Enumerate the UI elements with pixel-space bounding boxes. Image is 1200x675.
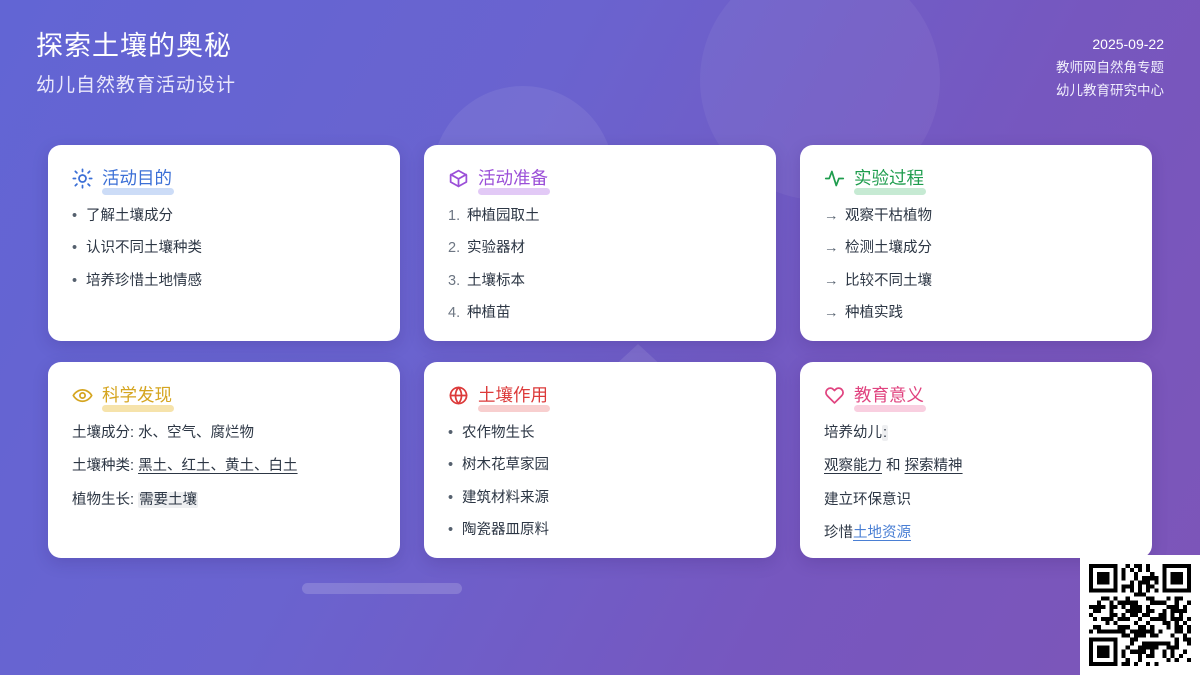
list-item: •了解土壤成分 (72, 205, 376, 227)
text-line-label: 培养幼儿 (824, 425, 882, 441)
card-title-wrap: 教育意义 (854, 384, 924, 407)
list-item: 2.实验器材 (448, 237, 752, 259)
list-item-text: 建筑材料来源 (462, 487, 549, 509)
card-1: 活动目的•了解土壤成分•认识不同土壤种类•培养珍惜土地情感 (48, 145, 400, 341)
card-body: •农作物生长•树木花草家园•建筑材料来源•陶瓷器皿原料 (448, 422, 752, 542)
list-item-text: 农作物生长 (462, 422, 535, 444)
list-item-text: 观察干枯植物 (845, 205, 932, 227)
qr-code-panel[interactable] (1080, 555, 1200, 675)
list-marker: 1. (448, 205, 467, 227)
card-title: 教育意义 (854, 385, 924, 405)
header-org: 幼儿教育研究中心 (1056, 79, 1164, 102)
text-line: 珍惜土地资源 (824, 522, 1128, 544)
card-body: 土壤成分: 水、空气、腐烂物土壤种类: 黑土、红土、黄土、白土植物生长: 需要土… (72, 422, 376, 511)
list-item: →种植实践 (824, 302, 1128, 324)
text-line-label: 土壤种类: (72, 458, 138, 474)
text-line-label: 土壤成分: (72, 425, 138, 441)
card-title-wrap: 活动准备 (478, 167, 548, 190)
text-line-value: 水、空气、腐烂物 (138, 425, 254, 441)
list-marker: 2. (448, 237, 467, 259)
list-marker: • (448, 422, 462, 444)
text-line: 培养幼儿: (824, 422, 1128, 444)
list-item: •认识不同土壤种类 (72, 237, 376, 259)
list-item: •培养珍惜土地情感 (72, 270, 376, 292)
globe-icon (448, 385, 469, 406)
list-marker: • (448, 519, 462, 541)
list-item-text: 认识不同土壤种类 (86, 237, 202, 259)
text-line: 观察能力 和 探索精神 (824, 455, 1128, 477)
list-item-text: 检测土壤成分 (845, 237, 932, 259)
header-date: 2025-09-22 (1056, 32, 1164, 56)
text-line-value[interactable]: 土地资源 (853, 525, 911, 541)
list-item-text: 实验器材 (467, 237, 525, 259)
list-marker: → (824, 237, 845, 259)
card-2: 活动准备1.种植园取土2.实验器材3.土壤标本4.种植苗 (424, 145, 776, 341)
list-item-text: 培养珍惜土地情感 (86, 270, 202, 292)
card-title: 实验过程 (854, 168, 924, 188)
eye-icon (72, 385, 93, 406)
list-marker: • (448, 487, 462, 509)
text-line-value: 黑土、红土、黄土、白土 (138, 458, 298, 474)
list-marker: → (824, 270, 845, 292)
list-item-text: 比较不同土壤 (845, 270, 932, 292)
list-marker: • (448, 454, 462, 476)
text-line: 土壤种类: 黑土、红土、黄土、白土 (72, 455, 376, 477)
cube-icon (448, 168, 469, 189)
list-item-text: 了解土壤成分 (86, 205, 173, 227)
card-header: 活动准备 (448, 167, 752, 190)
list-item-text: 种植实践 (845, 302, 903, 324)
list-marker: • (72, 205, 86, 227)
card-5: 土壤作用•农作物生长•树木花草家园•建筑材料来源•陶瓷器皿原料 (424, 362, 776, 558)
card-header: 实验过程 (824, 167, 1128, 190)
card-body: •了解土壤成分•认识不同土壤种类•培养珍惜土地情感 (72, 205, 376, 292)
list-item-text: 种植园取土 (467, 205, 540, 227)
card-title-highlight (854, 188, 926, 195)
header-source: 教师网自然角专题 (1056, 56, 1164, 79)
card-body: →观察干枯植物→检测土壤成分→比较不同土壤→种植实践 (824, 205, 1128, 325)
text-line-value: : (882, 425, 888, 441)
text-line-label: 珍惜 (824, 525, 853, 541)
card-title-wrap: 活动目的 (102, 167, 172, 190)
card-title-highlight (102, 188, 174, 195)
card-title: 土壤作用 (478, 385, 548, 405)
text-line: 植物生长: 需要土壤 (72, 489, 376, 511)
list-marker: 3. (448, 270, 467, 292)
card-title-wrap: 科学发现 (102, 384, 172, 407)
card-4: 科学发现土壤成分: 水、空气、腐烂物土壤种类: 黑土、红土、黄土、白土植物生长:… (48, 362, 400, 558)
list-item-text: 土壤标本 (467, 270, 525, 292)
sun-icon (72, 168, 93, 189)
card-grid: 活动目的•了解土壤成分•认识不同土壤种类•培养珍惜土地情感活动准备1.种植园取土… (48, 145, 1152, 558)
card-body: 培养幼儿:观察能力 和 探索精神建立环保意识珍惜土地资源 (824, 422, 1128, 545)
qr-code-image (1089, 564, 1191, 666)
list-item: •建筑材料来源 (448, 487, 752, 509)
list-item: →观察干枯植物 (824, 205, 1128, 227)
header-meta-block: 2025-09-22 教师网自然角专题 幼儿教育研究中心 (1056, 32, 1164, 103)
emphasis-term: 探索精神 (905, 458, 963, 474)
list-marker: → (824, 302, 845, 324)
card-title: 活动准备 (478, 168, 548, 188)
card-title: 活动目的 (102, 168, 172, 188)
list-item: 3.土壤标本 (448, 270, 752, 292)
card-header: 教育意义 (824, 384, 1128, 407)
list-item-text: 陶瓷器皿原料 (462, 519, 549, 541)
card-title: 科学发现 (102, 385, 172, 405)
list-item-text: 树木花草家园 (462, 454, 549, 476)
text-line: 建立环保意识 (824, 489, 1128, 511)
list-item: →比较不同土壤 (824, 270, 1128, 292)
card-3: 实验过程→观察干枯植物→检测土壤成分→比较不同土壤→种植实践 (800, 145, 1152, 341)
card-title-wrap: 实验过程 (854, 167, 924, 190)
list-item-text: 种植苗 (467, 302, 511, 324)
card-title-highlight (854, 405, 926, 412)
card-header: 活动目的 (72, 167, 376, 190)
list-item: 1.种植园取土 (448, 205, 752, 227)
text-line-value: 需要土壤 (138, 492, 198, 508)
list-item: •树木花草家园 (448, 454, 752, 476)
text-line: 土壤成分: 水、空气、腐烂物 (72, 422, 376, 444)
list-marker: → (824, 205, 845, 227)
card-6: 教育意义培养幼儿:观察能力 和 探索精神建立环保意识珍惜土地资源 (800, 362, 1152, 558)
heart-icon (824, 385, 845, 406)
activity-pulse-icon (824, 168, 845, 189)
card-body: 1.种植园取土2.实验器材3.土壤标本4.种植苗 (448, 205, 752, 325)
emphasis-term: 观察能力 (824, 458, 882, 474)
card-title-highlight (478, 405, 550, 412)
list-marker: 4. (448, 302, 467, 324)
decor-progress-bar (302, 583, 462, 594)
list-item: →检测土壤成分 (824, 237, 1128, 259)
card-header: 土壤作用 (448, 384, 752, 407)
card-title-highlight (102, 405, 174, 412)
page-title: 探索土壤的奥秘 (36, 28, 236, 64)
list-marker: • (72, 270, 86, 292)
list-marker: • (72, 237, 86, 259)
page-subtitle: 幼儿自然教育活动设计 (36, 70, 236, 97)
card-title-wrap: 土壤作用 (478, 384, 548, 407)
card-header: 科学发现 (72, 384, 376, 407)
text-line-label: 建立环保意识 (824, 492, 911, 508)
card-title-highlight (478, 188, 550, 195)
conjunction: 和 (882, 458, 905, 474)
text-line-label: 植物生长: (72, 492, 138, 508)
list-item: •农作物生长 (448, 422, 752, 444)
slide-header: 探索土壤的奥秘 幼儿自然教育活动设计 2025-09-22 教师网自然角专题 幼… (0, 0, 1200, 130)
list-item: •陶瓷器皿原料 (448, 519, 752, 541)
header-title-block: 探索土壤的奥秘 幼儿自然教育活动设计 (36, 28, 236, 97)
list-item: 4.种植苗 (448, 302, 752, 324)
